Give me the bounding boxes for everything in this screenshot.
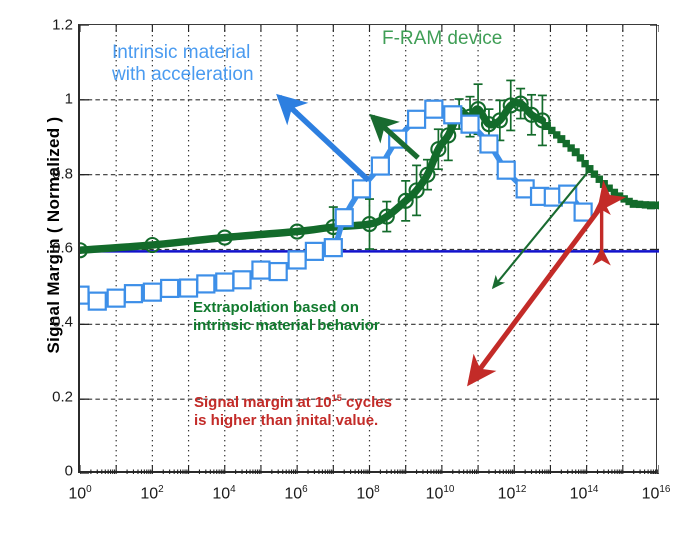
y-axis-title: Signal Margin ( Normalized ): [44, 85, 64, 385]
note-line1-exp: 15: [332, 393, 342, 403]
extrapolation-line2: intrinsic material behavior: [193, 317, 380, 334]
annotation-fram-device: F-RAM device: [382, 28, 502, 50]
chart-figure: Signal Margin ( Normalized ) 0 0.2 0.4 0…: [0, 0, 683, 534]
extrapolation-line1: Extrapolation based on: [193, 299, 359, 316]
annotation-intrinsic-material: Intrinsic material with acceleration: [112, 42, 254, 87]
x-tick-1e0: 100: [68, 484, 91, 503]
y-tick-0: 0: [65, 463, 73, 480]
x-tick-1e14: 1014: [570, 484, 599, 503]
note-line2: is higher than inital value.: [194, 412, 378, 429]
y-tick-1: 1: [65, 91, 73, 108]
y-tick-0.6: 0.6: [52, 240, 73, 257]
x-tick-1e10: 1010: [426, 484, 455, 503]
x-tick-1e16: 1016: [642, 484, 671, 503]
note-line1-b: cycles: [342, 394, 392, 411]
y-tick-0.2: 0.2: [52, 388, 73, 405]
x-tick-1e12: 1012: [498, 484, 527, 503]
y-tick-1.2: 1.2: [52, 17, 73, 34]
annotation-extrapolation: Extrapolation based onintrinsic material…: [193, 299, 380, 334]
y-tick-0.4: 0.4: [52, 314, 73, 331]
annotation-signal-margin-note: Signal margin at 1015 cyclesis higher th…: [194, 393, 392, 429]
x-tick-1e2: 102: [140, 484, 163, 503]
x-tick-1e6: 106: [284, 484, 307, 503]
note-line1-a: Signal margin at 10: [194, 394, 332, 411]
y-tick-0.8: 0.8: [52, 165, 73, 182]
x-tick-1e4: 104: [212, 484, 235, 503]
x-tick-1e8: 108: [356, 484, 379, 503]
